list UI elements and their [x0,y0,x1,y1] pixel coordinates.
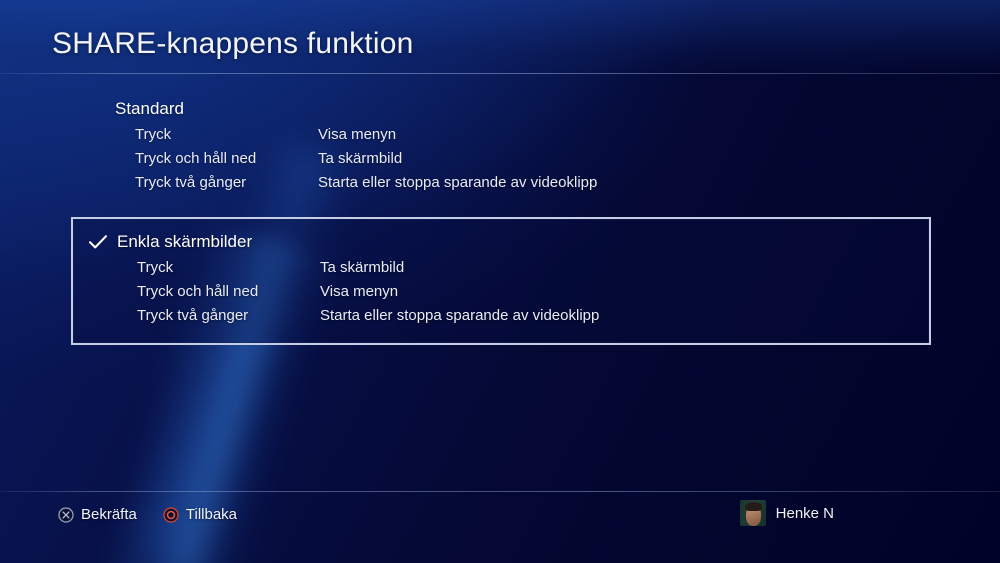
header-divider [0,73,1000,74]
option-enkla-skarmbilder-header: Enkla skärmbilder [73,229,929,255]
row-value: Visa menyn [320,283,398,300]
row-key: Tryck två gånger [135,174,246,191]
row-value: Starta eller stoppa sparande av videokli… [318,174,597,191]
avatar [740,500,766,526]
hint-back[interactable]: Tillbaka [163,506,237,523]
option-standard-title: Standard [115,99,184,119]
option-standard-header: Standard [71,96,931,122]
row-key: Tryck [135,126,171,143]
option-standard-rows: Tryck Visa menyn Tryck och håll ned Ta s… [71,126,931,198]
row-key: Tryck [137,259,173,276]
circle-button-icon [163,507,179,523]
row-key: Tryck två gånger [137,307,248,324]
row-key: Tryck och håll ned [137,283,258,300]
button-hints: Bekräfta Tillbaka [58,506,237,523]
row-value: Starta eller stoppa sparande av videokli… [320,307,599,324]
hint-confirm-label: Bekräfta [81,506,137,523]
option-enkla-skarmbilder-title: Enkla skärmbilder [117,232,252,252]
row-key: Tryck och håll ned [135,150,256,167]
table-row: Tryck och håll ned Visa menyn [137,283,929,307]
option-enkla-skarmbilder[interactable]: Enkla skärmbilder Tryck Ta skärmbild Try… [71,217,931,345]
table-row: Tryck två gånger Starta eller stoppa spa… [137,307,929,331]
row-value: Ta skärmbild [318,150,402,167]
current-user[interactable]: Henke N [740,500,834,526]
option-enkla-skarmbilder-rows: Tryck Ta skärmbild Tryck och håll ned Vi… [73,259,929,331]
ps4-settings-screen: SHARE-knappens funktion Standard Tryck V… [0,0,1000,563]
row-value: Visa menyn [318,126,396,143]
selection-highlight-box: Enkla skärmbilder Tryck Ta skärmbild Try… [71,217,931,345]
check-icon [87,231,109,253]
hint-confirm[interactable]: Bekräfta [58,506,137,523]
table-row: Tryck Ta skärmbild [137,259,929,283]
table-row: Tryck och håll ned Ta skärmbild [135,150,931,174]
cross-button-icon [58,507,74,523]
hint-back-label: Tillbaka [186,506,237,523]
avatar-shading [740,500,766,526]
option-standard[interactable]: Standard Tryck Visa menyn Tryck och håll… [71,96,931,198]
row-value: Ta skärmbild [320,259,404,276]
page-title: SHARE-knappens funktion [52,27,413,61]
table-row: Tryck Visa menyn [135,126,931,150]
table-row: Tryck två gånger Starta eller stoppa spa… [135,174,931,198]
header: SHARE-knappens funktion [0,0,1000,74]
username-label: Henke N [776,505,834,522]
footer: Bekräfta Tillbaka Henke N [0,492,1000,563]
